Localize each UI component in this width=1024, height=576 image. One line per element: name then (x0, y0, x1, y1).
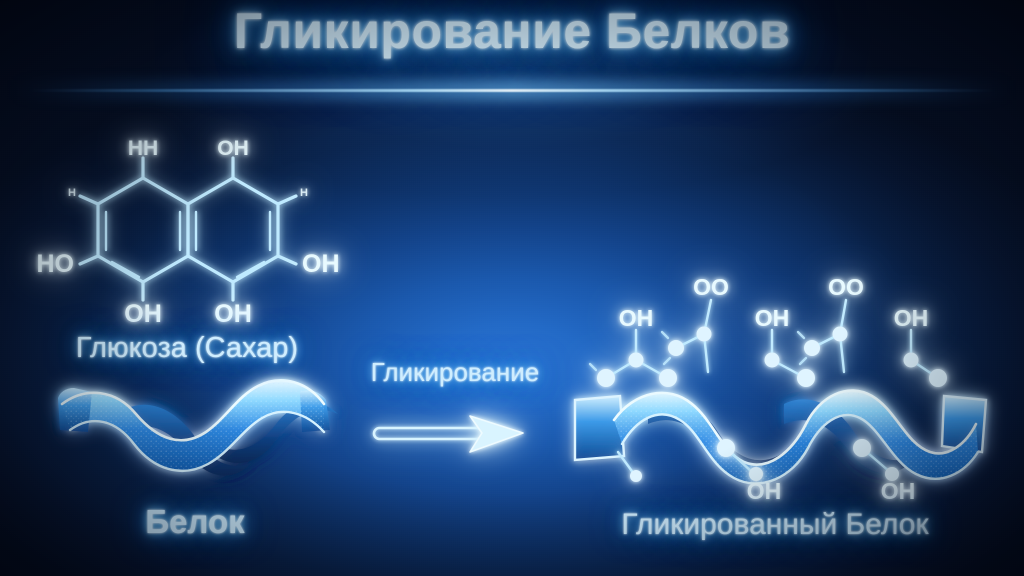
background-vignette (0, 0, 1024, 576)
slide-canvas: Гликирование Белков (0, 0, 1024, 576)
